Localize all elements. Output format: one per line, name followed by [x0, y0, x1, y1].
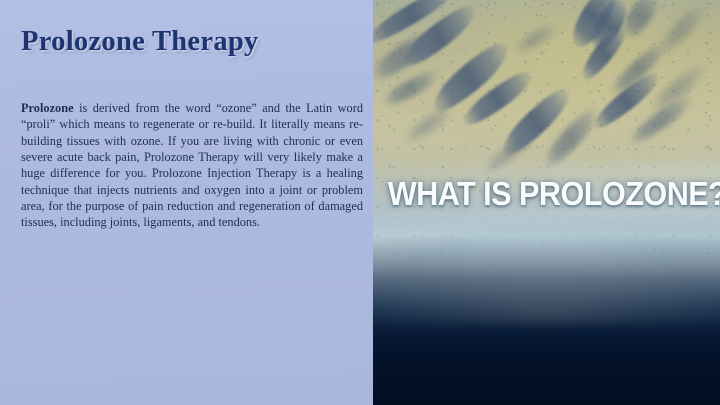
- slide-root: Prolozone Therapy Prolozone is derived f…: [0, 0, 720, 405]
- body-text: is derived from the word “ozone” and the…: [21, 101, 363, 229]
- body-paragraph: Prolozone is derived from the word “ozon…: [21, 100, 363, 231]
- body-lead-term: Prolozone: [21, 101, 74, 115]
- text-panel: Prolozone Therapy Prolozone is derived f…: [0, 0, 373, 405]
- image-panel: WHAT IS PROLOZONE?: [373, 0, 720, 405]
- deep-space-region: [373, 235, 720, 405]
- image-headline: WHAT IS PROLOZONE?: [388, 178, 706, 212]
- page-title: Prolozone Therapy: [21, 27, 259, 57]
